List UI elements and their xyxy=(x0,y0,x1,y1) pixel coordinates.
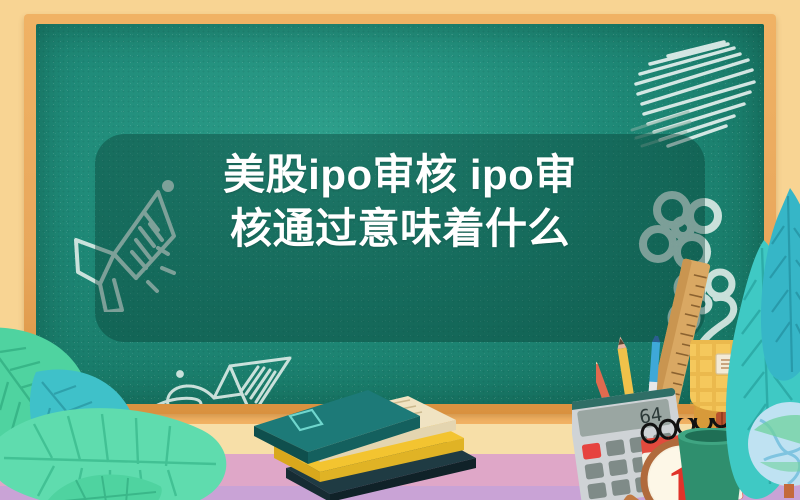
page-title-line-1: 美股ipo审核 ipo审 xyxy=(155,148,645,202)
tropical-leaf-icon-right-2 xyxy=(744,186,800,391)
page-title: 美股ipo审核 ipo审 核通过意味着什么 xyxy=(95,148,705,256)
globe xyxy=(744,400,800,500)
tropical-leaf-icon-accent xyxy=(46,460,166,500)
page-title-line-2: 核通过意味着什么 xyxy=(155,202,645,256)
cover-image-canvas: 美股ipo审核 ipo审 核通过意味着什么 xyxy=(0,0,800,500)
stacked-books xyxy=(250,372,480,500)
